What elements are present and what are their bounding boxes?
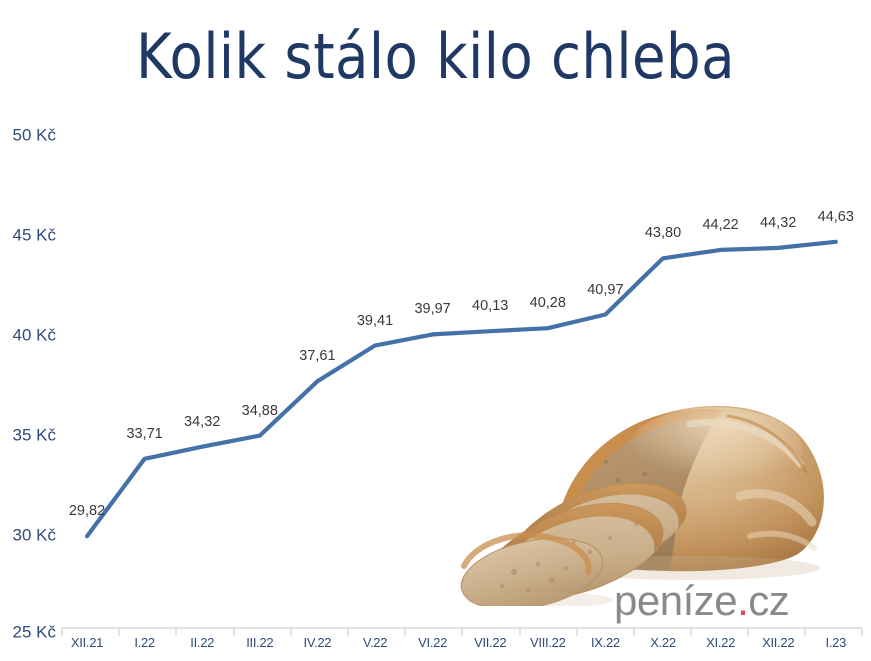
data-point-label: 40,28: [530, 296, 566, 311]
data-point-label: 39,97: [414, 302, 450, 317]
plot-area: [0, 0, 871, 661]
x-tick-label: X.22: [650, 636, 676, 649]
x-tick-label: XII.21: [71, 636, 103, 649]
data-point-label: 34,88: [242, 404, 278, 419]
x-tick-label: VII.22: [474, 636, 506, 649]
x-tick-label: VI.22: [418, 636, 447, 649]
data-point-label: 44,32: [760, 216, 796, 231]
x-tick-label: III.22: [246, 636, 273, 649]
brand-name-right: cz: [748, 577, 789, 624]
x-tick-label: XI.22: [706, 636, 735, 649]
data-point-label: 34,32: [184, 415, 220, 430]
data-point-label: 43,80: [645, 226, 681, 241]
brand-dot: .: [737, 577, 748, 624]
x-tick-label: IX.22: [591, 636, 620, 649]
x-tick-label: II.22: [190, 636, 214, 649]
x-axis-ticks: [62, 628, 862, 636]
x-tick-label: VIII.22: [530, 636, 565, 649]
brand-logo[interactable]: peníze.cz: [614, 580, 789, 622]
x-tick-label: V.22: [363, 636, 387, 649]
x-tick-label: I.22: [134, 636, 154, 649]
x-tick-label: I.23: [826, 636, 846, 649]
data-point-label: 44,63: [818, 210, 854, 225]
data-point-label: 29,82: [69, 504, 105, 519]
chart-canvas: Kolik stálo kilo chleba 50 Kč 45 Kč 40 K…: [0, 0, 871, 661]
data-point-label: 39,41: [357, 314, 393, 329]
x-tick-label: XII.22: [762, 636, 794, 649]
data-point-label: 40,13: [472, 299, 508, 314]
data-point-label: 44,22: [702, 218, 738, 233]
data-point-label: 37,61: [299, 349, 335, 364]
data-series-line: [87, 242, 836, 536]
brand-name-left: peníze: [614, 577, 737, 624]
x-tick-label: IV.22: [304, 636, 332, 649]
data-point-label: 33,71: [126, 427, 162, 442]
data-point-label: 40,97: [587, 283, 623, 298]
